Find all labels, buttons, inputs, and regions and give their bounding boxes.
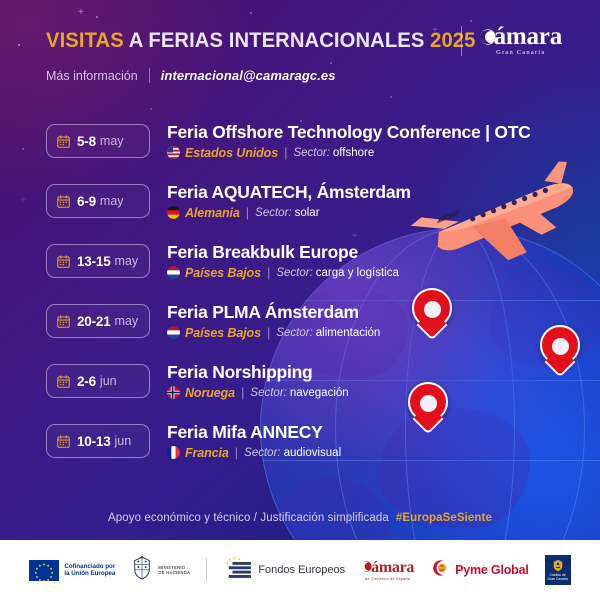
sector-label: Sector: [255, 207, 291, 219]
calendar-icon [57, 435, 70, 448]
date-badge: 13-15 may [46, 244, 150, 278]
camara-gran-canaria-logo: ámara Gran Canaria [480, 24, 562, 56]
event-meta: Países Bajos | Sector: carga y logística [167, 265, 399, 280]
calendar-icon [57, 135, 70, 148]
event-month: may [100, 134, 124, 148]
event-name: Feria Norshipping [167, 362, 349, 383]
map-pin-2 [540, 325, 580, 365]
event-dates: 10-13 [77, 434, 111, 449]
tagline: Apoyo económico y técnico / Justificació… [0, 512, 600, 524]
header: VISITAS A FERIAS INTERNACIONALES 2025 ám… [46, 28, 570, 83]
flag-icon-us [167, 146, 180, 159]
eu-label-line2: la Unión Europea [64, 570, 115, 577]
event-name: Feria Breakbulk Europe [167, 242, 399, 263]
event-dates: 5-8 [77, 134, 96, 149]
flag-icon-de [167, 206, 180, 219]
cabildo-label: Cabildo de Gran Canaria [547, 573, 567, 581]
event-month: may [100, 194, 124, 208]
title-mid: A FERIAS INTERNACIONALES [124, 28, 430, 52]
event-month: jun [100, 374, 117, 388]
cabildo-box: Cabildo de Gran Canaria [545, 555, 571, 585]
event-meta: Noruega | Sector: navegación [167, 385, 349, 400]
event-dates: 20-21 [77, 314, 111, 329]
flag-icon-fr [167, 446, 180, 459]
date-badge: 20-21 may [46, 304, 150, 338]
calendar-icon [57, 315, 70, 328]
meta-divider: | [241, 385, 244, 400]
eu-label-line1: Cofinanciado por [64, 563, 115, 570]
meta-divider: | [267, 265, 270, 280]
footer-logo-strip: Cofinanciado por la Unión Europea MINIST… [0, 540, 600, 600]
event-info: Feria AQUATECH, Ámsterdam Alemania | Sec… [167, 182, 411, 220]
event-country: Noruega [185, 386, 235, 400]
logo-fondos-europeos: Fondos Europeos [223, 556, 345, 585]
event-row[interactable]: 20-21 may Feria PLMA Ámsterdam Países Ba… [46, 302, 531, 362]
poster-background: + + + + [0, 0, 600, 540]
event-row[interactable]: 2-6 jun Feria Norshipping Noruega | Sect… [46, 362, 531, 422]
calendar-icon [57, 375, 70, 388]
event-meta: Alemania | Sector: solar [167, 205, 411, 220]
flag-icon-nl [167, 326, 180, 339]
sector-label: Sector: [276, 327, 312, 339]
event-month: jun [115, 434, 132, 448]
event-meta: Francia | Sector: audiovisual [167, 445, 341, 460]
event-info: Feria Offshore Technology Conference | O… [167, 122, 531, 160]
event-info: Feria PLMA Ámsterdam Países Bajos | Sect… [167, 302, 380, 340]
meta-divider: | [235, 445, 238, 460]
date-badge: 2-6 jun [46, 364, 150, 398]
title-year: 2025 [430, 28, 475, 52]
sector-value: audiovisual [284, 447, 342, 459]
camara-footer-word: ámara [361, 559, 414, 576]
contact-line: Más información internacional@camaragc.e… [46, 68, 570, 83]
event-dates: 13-15 [77, 254, 111, 269]
logo-cabildo-gran-canaria: Cabildo de Gran Canaria [545, 555, 571, 585]
title-highlight: VISITAS [46, 28, 124, 52]
event-dates: 6-9 [77, 194, 96, 209]
tagline-text: Apoyo económico y técnico / Justificació… [108, 512, 389, 524]
date-badge: 5-8 may [46, 124, 150, 158]
flag-icon-nl [167, 266, 180, 279]
logo-european-union: Cofinanciado por la Unión Europea [29, 560, 115, 581]
pyme-global-label: Pyme Global [455, 563, 529, 577]
contact-divider [149, 68, 150, 83]
event-month: may [115, 314, 139, 328]
event-info: Feria Breakbulk Europe Países Bajos | Se… [167, 242, 399, 280]
cabildo-crest-icon [552, 559, 564, 572]
event-info: Feria Mifa ANNECY Francia | Sector: audi… [167, 422, 341, 460]
meta-divider: | [267, 325, 270, 340]
event-country: Estados Unidos [185, 146, 278, 160]
event-meta: Países Bajos | Sector: alimentación [167, 325, 380, 340]
ministerio-line2: DE HACIENDA [158, 570, 190, 575]
sector-label: Sector: [244, 447, 280, 459]
camara-footer-sub: de Comercio de España [365, 577, 410, 581]
event-name: Feria Offshore Technology Conference | O… [167, 122, 531, 143]
sector-label: Sector: [276, 267, 312, 279]
calendar-icon [57, 195, 70, 208]
logo-ministerio-hacienda: MINISTERIO DE HACIENDA [131, 555, 190, 586]
ministerio-line1: MINISTERIO [158, 565, 185, 570]
date-badge: 6-9 may [46, 184, 150, 218]
page-title: VISITAS A FERIAS INTERNACIONALES 2025 [46, 28, 539, 53]
eu-flag-icon [29, 560, 59, 581]
event-dates: 2-6 [77, 374, 96, 389]
sector-label: Sector: [250, 387, 286, 399]
sector-value: navegación [290, 387, 349, 399]
event-row[interactable]: 10-13 jun Feria Mifa ANNECY Francia | Se… [46, 422, 531, 482]
logo-camara-espana: ámara de Comercio de España [361, 559, 414, 581]
sector-label: Sector: [293, 147, 329, 159]
event-name: Feria AQUATECH, Ámsterdam [167, 182, 411, 203]
pyme-globe-icon [430, 558, 450, 583]
date-badge: 10-13 jun [46, 424, 150, 458]
more-info-label: Más información [46, 69, 138, 83]
tagline-hashtag: #EuropaSeSiente [396, 512, 492, 524]
fondos-europeos-label: Fondos Europeos [258, 564, 345, 576]
event-meta: Estados Unidos | Sector: offshore [167, 145, 531, 160]
event-info: Feria Norshipping Noruega | Sector: nave… [167, 362, 349, 400]
event-name: Feria PLMA Ámsterdam [167, 302, 380, 323]
contact-email[interactable]: internacional@camaragc.es [161, 68, 336, 83]
eu-label: Cofinanciado por la Unión Europea [64, 563, 115, 578]
event-country: Países Bajos [185, 326, 261, 340]
sector-value: carga y logística [316, 267, 399, 279]
ministerio-label: MINISTERIO DE HACIENDA [158, 565, 190, 576]
event-month: may [115, 254, 139, 268]
event-country: Países Bajos [185, 266, 261, 280]
sector-value: solar [295, 207, 320, 219]
sector-value: alimentación [316, 327, 381, 339]
meta-divider: | [284, 145, 287, 160]
logo-pyme-global: Pyme Global [430, 558, 529, 583]
camara-logo-word: ámara [480, 24, 562, 50]
calendar-icon [57, 255, 70, 268]
event-country: Alemania [185, 206, 240, 220]
camara-footer-text: ámara [371, 559, 414, 576]
cabildo-line2: Gran Canaria [547, 577, 567, 581]
camara-logo-text: ámara [494, 23, 562, 50]
event-row[interactable]: 6-9 may Feria AQUATECH, Ámsterdam Aleman… [46, 182, 531, 242]
spain-coat-of-arms-icon [131, 555, 153, 586]
sector-value: offshore [333, 147, 374, 159]
flag-icon-no [167, 386, 180, 399]
event-name: Feria Mifa ANNECY [167, 422, 341, 443]
event-row[interactable]: 13-15 may Feria Breakbulk Europe Países … [46, 242, 531, 302]
poster: + + + + [0, 0, 600, 600]
meta-divider: | [246, 205, 249, 220]
event-list: 5-8 may Feria Offshore Technology Confer… [46, 122, 531, 482]
event-country: Francia [185, 446, 229, 460]
header-divider [461, 26, 462, 56]
camara-logo-sub: Gran Canaria [480, 49, 562, 56]
footer-divider [206, 558, 207, 582]
fondos-europeos-icon [223, 556, 253, 585]
event-row[interactable]: 5-8 may Feria Offshore Technology Confer… [46, 122, 531, 182]
